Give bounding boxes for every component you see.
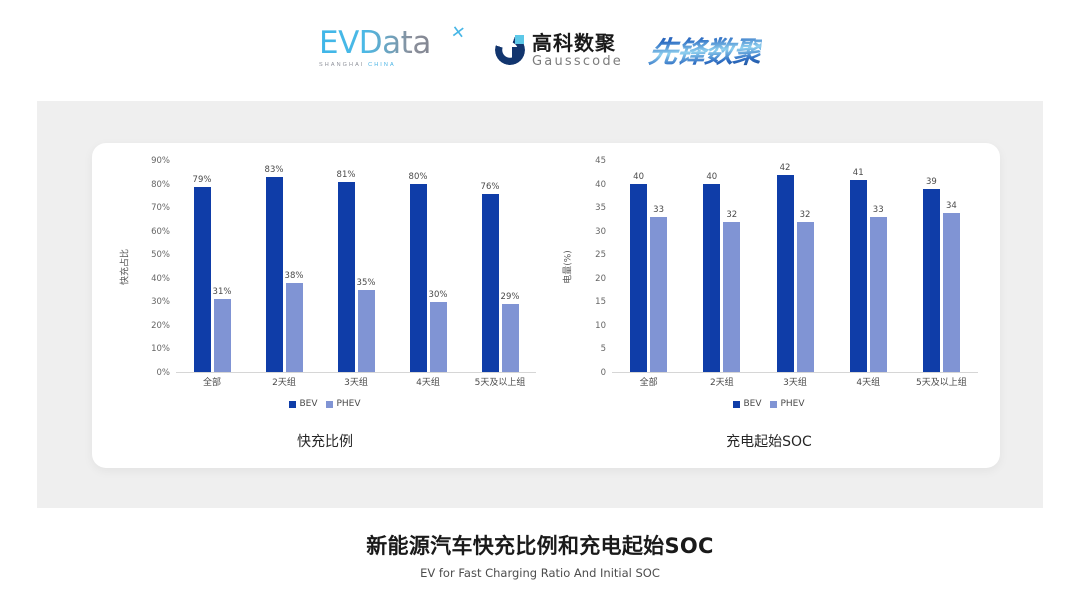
y-tick-label: 30 — [595, 227, 606, 237]
bar-value-label: 32 — [800, 210, 811, 220]
legend-label: PHEV — [336, 399, 360, 409]
legend-swatch-icon — [326, 401, 333, 408]
bar-bev: 83% — [266, 177, 283, 372]
x-category-label: 3天组 — [320, 375, 392, 391]
y-axis-ticks-right: 051015202530354045 — [566, 161, 606, 373]
legend-left: BEVPHEV — [100, 399, 550, 409]
x-category-label: 2天组 — [248, 375, 320, 391]
x-category-label: 4天组 — [832, 375, 905, 391]
bars-region-right: 40334032423241333934 — [612, 161, 978, 373]
bar-value-label: 83% — [265, 165, 284, 175]
y-tick-label: 10% — [151, 344, 170, 354]
y-tick-label: 5 — [601, 344, 606, 354]
y-tick-label: 45 — [595, 156, 606, 166]
bar-phev: 32 — [797, 222, 814, 372]
bar-value-label: 33 — [653, 205, 664, 215]
footer: 新能源汽车快充比例和充电起始SOC EV for Fast Charging R… — [0, 530, 1080, 580]
x-axis-categories-left: 全部2天组3天组4天组5天及以上组 — [176, 375, 536, 391]
bar-bev: 80% — [410, 184, 427, 372]
bar-group: 4033 — [612, 161, 685, 372]
legend-label: PHEV — [780, 399, 804, 409]
bar-phev: 38% — [286, 283, 303, 372]
chart-title-left: 快充比例 — [100, 431, 550, 451]
bar-value-label: 34 — [946, 201, 957, 211]
evdata-logo: EVData ✕ SHANGHAI CHINA — [319, 26, 469, 74]
bar-phev: 31% — [214, 299, 231, 372]
legend-swatch-icon — [733, 401, 740, 408]
x-axis-categories-right: 全部2天组3天组4天组5天及以上组 — [612, 375, 978, 391]
plot-area-left: 快充占比 0%10%20%30%40%50%60%70%80%90% 79%31… — [100, 161, 550, 373]
bar-phev: 32 — [723, 222, 740, 372]
y-axis-ticks-left: 0%10%20%30%40%50%60%70%80%90% — [122, 161, 170, 373]
bar-value-label: 30% — [429, 290, 448, 300]
gausscode-accent-square — [515, 35, 524, 44]
bar-phev: 30% — [430, 302, 447, 372]
legend-swatch-icon — [770, 401, 777, 408]
legend-label: BEV — [743, 399, 761, 409]
chart-initial-soc: 电量(%) 051015202530354045 403340324232413… — [544, 143, 994, 468]
x-category-label: 4天组 — [392, 375, 464, 391]
y-tick-label: 40 — [595, 180, 606, 190]
y-tick-label: 25 — [595, 250, 606, 260]
y-tick-label: 20% — [151, 321, 170, 331]
bar-value-label: 32 — [726, 210, 737, 220]
y-tick-label: 90% — [151, 156, 170, 166]
bar-group: 79%31% — [176, 161, 248, 372]
bar-group: 3934 — [905, 161, 978, 372]
y-tick-label: 20 — [595, 274, 606, 284]
xianfeng-logo: 先锋数聚 — [647, 29, 763, 71]
bar-value-label: 42 — [780, 163, 791, 173]
evdata-wordmark: EVData — [319, 26, 469, 60]
legend-item-phev[interactable]: PHEV — [326, 399, 360, 409]
x-category-label: 全部 — [176, 375, 248, 391]
bar-group: 76%29% — [464, 161, 536, 372]
y-tick-label: 15 — [595, 297, 606, 307]
bar-value-label: 76% — [481, 182, 500, 192]
y-tick-label: 60% — [151, 227, 170, 237]
bar-value-label: 81% — [337, 170, 356, 180]
bar-phev: 33 — [650, 217, 667, 372]
bar-value-label: 33 — [873, 205, 884, 215]
bar-value-label: 39 — [926, 177, 937, 187]
bar-group: 4032 — [685, 161, 758, 372]
bar-value-label: 31% — [213, 287, 232, 297]
x-category-label: 全部 — [612, 375, 685, 391]
y-tick-label: 10 — [595, 321, 606, 331]
bar-bev: 42 — [777, 175, 794, 372]
bar-bev: 81% — [338, 182, 355, 372]
bar-bev: 41 — [850, 180, 867, 372]
bar-group: 83%38% — [248, 161, 320, 372]
bar-value-label: 40 — [706, 172, 717, 182]
chart-title-right: 充电起始SOC — [544, 431, 994, 451]
x-category-label: 3天组 — [758, 375, 831, 391]
bar-bev: 76% — [482, 194, 499, 372]
bar-bev: 79% — [194, 187, 211, 372]
bar-phev: 34 — [943, 213, 960, 372]
bars-region-left: 79%31%83%38%81%35%80%30%76%29% — [176, 161, 536, 373]
y-tick-label: 0 — [601, 368, 606, 378]
bar-value-label: 38% — [285, 271, 304, 281]
x-category-label: 5天及以上组 — [464, 375, 536, 391]
y-tick-label: 30% — [151, 297, 170, 307]
bar-bev: 40 — [630, 184, 647, 372]
bar-value-label: 40 — [633, 172, 644, 182]
charts-card: 快充占比 0%10%20%30%40%50%60%70%80%90% 79%31… — [92, 143, 1000, 468]
bar-bev: 40 — [703, 184, 720, 372]
evdata-tagline-country: CHINA — [368, 62, 396, 68]
gausscode-name-cn: 高科数聚 — [532, 32, 623, 54]
bar-phev: 29% — [502, 304, 519, 372]
bar-group: 80%30% — [392, 161, 464, 372]
bar-phev: 35% — [358, 290, 375, 372]
legend-item-phev[interactable]: PHEV — [770, 399, 804, 409]
bar-value-label: 80% — [409, 172, 428, 182]
bar-group: 4232 — [758, 161, 831, 372]
legend-right: BEVPHEV — [544, 399, 994, 409]
x-category-label: 5天及以上组 — [905, 375, 978, 391]
bar-bev: 39 — [923, 189, 940, 372]
gausscode-name-en: Gausscode — [532, 54, 623, 69]
bar-phev: 33 — [870, 217, 887, 372]
bar-group: 4133 — [832, 161, 905, 372]
y-tick-label: 0% — [157, 368, 171, 378]
y-tick-label: 35 — [595, 203, 606, 213]
y-tick-label: 50% — [151, 250, 170, 260]
bar-value-label: 35% — [357, 278, 376, 288]
gausscode-logo: 高科数聚 Gausscode — [495, 27, 623, 73]
bar-value-label: 79% — [193, 175, 212, 185]
logo-header: EVData ✕ SHANGHAI CHINA 高科数聚 Gausscode 先… — [0, 22, 1080, 78]
y-tick-label: 40% — [151, 274, 170, 284]
page-subtitle: EV for Fast Charging Ratio And Initial S… — [0, 566, 1080, 580]
bar-value-label: 41 — [853, 168, 864, 178]
y-tick-label: 70% — [151, 203, 170, 213]
evdata-tagline: SHANGHAI CHINA — [319, 62, 469, 68]
evdata-x-icon: ✕ — [449, 22, 466, 44]
legend-item-bev[interactable]: BEV — [733, 399, 761, 409]
plot-area-right: 电量(%) 051015202530354045 403340324232413… — [544, 161, 994, 373]
bar-value-label: 29% — [501, 292, 520, 302]
legend-item-bev[interactable]: BEV — [289, 399, 317, 409]
gausscode-text: 高科数聚 Gausscode — [532, 32, 623, 69]
bar-group: 81%35% — [320, 161, 392, 372]
x-category-label: 2天组 — [685, 375, 758, 391]
gausscode-mark-icon — [495, 35, 525, 65]
page-title: 新能源汽车快充比例和充电起始SOC — [0, 530, 1080, 560]
gausscode-inner-square — [512, 47, 522, 58]
y-tick-label: 80% — [151, 180, 170, 190]
evdata-tagline-city: SHANGHAI — [319, 62, 368, 68]
chart-fast-charging-ratio: 快充占比 0%10%20%30%40%50%60%70%80%90% 79%31… — [100, 143, 550, 468]
legend-label: BEV — [299, 399, 317, 409]
legend-swatch-icon — [289, 401, 296, 408]
